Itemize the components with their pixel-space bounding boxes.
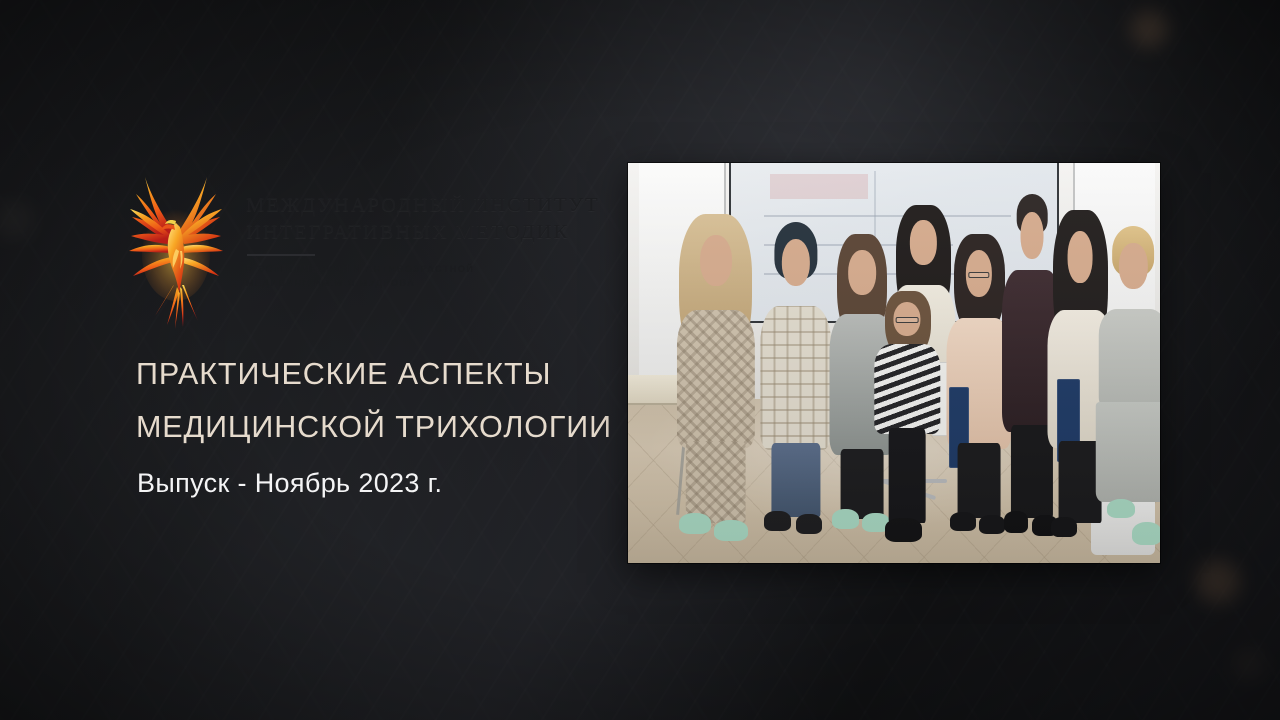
brand-divider: [247, 254, 315, 256]
brand-name-line-1: МЕЖДУНАРОДНЫЙ ИНСТИТУТ: [246, 192, 600, 219]
graduation-date-label: Выпуск - Ноябрь 2023 г.: [137, 468, 442, 499]
slide-left-column: МЕЖДУНАРОДНЫЙ ИНСТИТУТ ИНТЕГРАТИВНЫХ МЕТ…: [0, 0, 620, 720]
photo-person-2: [758, 215, 832, 551]
photo-person-9: [1096, 223, 1160, 555]
headline-line-1: ПРАКТИЧЕСКИЕ АСПЕКТЫ: [136, 348, 656, 401]
eyeglasses-icon: [968, 272, 989, 278]
eyeglasses-icon: [896, 317, 919, 323]
brand-subtitle-line-2: МЕДИЦИНЕ ИМ.М.Я.МУДРОВА: [246, 277, 600, 291]
slide-headline: ПРАКТИЧЕСКИЕ АСПЕКТЫ МЕДИЦИНСКОЙ ТРИХОЛО…: [136, 348, 656, 454]
photo-person-5-seated: [867, 291, 947, 555]
group-photo-scene: [628, 163, 1160, 563]
brand-name-line-2: ИНТЕГРАТИВНЫХ МЕТОДИК: [246, 219, 600, 246]
phoenix-icon: [124, 163, 228, 331]
brand-wordmark: МЕЖДУНАРОДНЫЙ ИНСТИТУТ ИНТЕГРАТИВНЫХ МЕТ…: [246, 163, 600, 290]
group-photo: [628, 163, 1160, 563]
brand-subtitle-line-1: В ЭСТЕТИЧЕСКОЙ И АНТИВОЗРАСТНОЙ: [246, 263, 600, 277]
photo-person-1: [676, 207, 756, 551]
headline-line-2: МЕДИЦИНСКОЙ ТРИХОЛОГИИ: [136, 401, 656, 454]
presentation-slide: МЕЖДУНАРОДНЫЙ ИНСТИТУТ ИНТЕГРАТИВНЫХ МЕТ…: [0, 0, 1280, 720]
brand-lockup: МЕЖДУНАРОДНЫЙ ИНСТИТУТ ИНТЕГРАТИВНЫХ МЕТ…: [124, 163, 600, 331]
